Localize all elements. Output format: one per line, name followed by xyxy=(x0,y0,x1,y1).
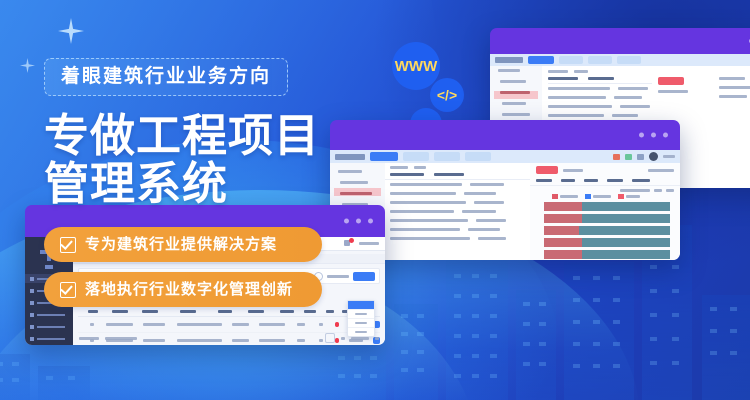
headline: 专做工程项目 管理系统 xyxy=(44,112,344,207)
building xyxy=(702,295,750,400)
context-menu-item-active[interactable] xyxy=(348,301,374,309)
tech-bubble-code: </> xyxy=(430,78,464,112)
headline-line-2: 管理系统 xyxy=(44,160,344,208)
tab-progress[interactable] xyxy=(588,56,612,64)
delete-button[interactable] xyxy=(536,166,558,174)
headline-line-1: 专做工程项目 xyxy=(44,112,344,160)
user-label[interactable] xyxy=(359,242,379,245)
tech-bubble-label: </> xyxy=(437,87,457,103)
chart-bars xyxy=(530,201,680,260)
delete-button[interactable] xyxy=(658,77,684,85)
tab-contract[interactable] xyxy=(403,152,429,161)
context-menu-item[interactable] xyxy=(348,309,374,318)
tree-item[interactable] xyxy=(494,102,538,110)
context-menu-item[interactable] xyxy=(348,318,374,327)
avatar[interactable] xyxy=(649,152,658,161)
window-controls[interactable] xyxy=(639,133,668,138)
chart-legend xyxy=(530,192,680,201)
feature-badges: 专为建筑行业提供解决方案 落地执行行业数字化管理创新 xyxy=(44,227,344,307)
hero-copy: 着眼建筑行业业务方向 专做工程项目 管理系统 专为建筑行业提供解决方案 落地执行… xyxy=(44,58,344,317)
app-logo xyxy=(495,57,523,63)
bar-row xyxy=(544,238,670,247)
tree-item[interactable] xyxy=(494,69,538,77)
page-prev-button[interactable] xyxy=(325,333,335,343)
chart-icon[interactable] xyxy=(637,154,644,160)
chart-panel xyxy=(530,163,680,260)
pagination-info xyxy=(105,337,137,340)
legend-item xyxy=(585,194,611,199)
tab-project-list[interactable] xyxy=(370,152,398,161)
tab-bar xyxy=(490,54,750,66)
message-icon[interactable] xyxy=(613,154,620,160)
tab-progress[interactable] xyxy=(434,152,460,161)
bar-row xyxy=(544,226,670,235)
legend-item xyxy=(552,194,578,199)
pagination xyxy=(73,333,385,343)
feature-badge-label: 专为建筑行业提供解决方案 xyxy=(85,237,277,252)
checkbox-check-icon xyxy=(60,282,76,298)
notification-badge xyxy=(349,238,354,243)
tab-contract[interactable] xyxy=(559,56,583,64)
page-number[interactable] xyxy=(341,337,345,340)
legend-item xyxy=(618,194,640,199)
window-title-bar xyxy=(490,28,750,54)
tree-item-active[interactable] xyxy=(494,91,538,99)
bar-row xyxy=(544,250,670,259)
tab-settlement[interactable] xyxy=(465,152,491,161)
user-label xyxy=(663,155,675,158)
feature-badge-label: 落地执行行业数字化管理创新 xyxy=(85,282,293,297)
window-controls[interactable] xyxy=(344,219,373,224)
bell-icon[interactable] xyxy=(625,154,632,160)
bar-row xyxy=(544,214,670,223)
notification-icon[interactable] xyxy=(344,240,352,247)
feature-badge[interactable]: 落地执行行业数字化管理创新 xyxy=(44,272,322,307)
subtitle-box: 着眼建筑行业业务方向 xyxy=(44,58,288,96)
sidebar-item-report[interactable] xyxy=(25,334,73,343)
tab-settlement[interactable] xyxy=(617,56,641,64)
checkbox-check-icon xyxy=(60,237,76,253)
page-next-button[interactable] xyxy=(375,337,379,340)
list-panel xyxy=(385,163,531,260)
tree-item[interactable] xyxy=(494,80,538,88)
subtitle-text: 着眼建筑行业业务方向 xyxy=(61,67,271,86)
marketing-banner: WWW </> HTML CSS PHP JS 0 xyxy=(0,0,750,400)
sidebar-item-cost[interactable] xyxy=(25,322,73,331)
table-row[interactable] xyxy=(78,317,380,333)
status-badge xyxy=(335,322,340,327)
tech-bubble-www: WWW xyxy=(392,42,440,90)
tech-bubble-label: WWW xyxy=(395,58,437,75)
feature-badge[interactable]: 专为建筑行业提供解决方案 xyxy=(44,227,322,262)
bar-row xyxy=(544,202,670,211)
page-size-label[interactable] xyxy=(351,337,369,340)
pagination-total xyxy=(79,337,99,340)
window-title-bar xyxy=(330,120,680,150)
tab-bar xyxy=(330,150,680,163)
context-menu[interactable] xyxy=(347,300,375,337)
tab-project-list[interactable] xyxy=(528,56,554,64)
search-button[interactable] xyxy=(353,272,375,281)
